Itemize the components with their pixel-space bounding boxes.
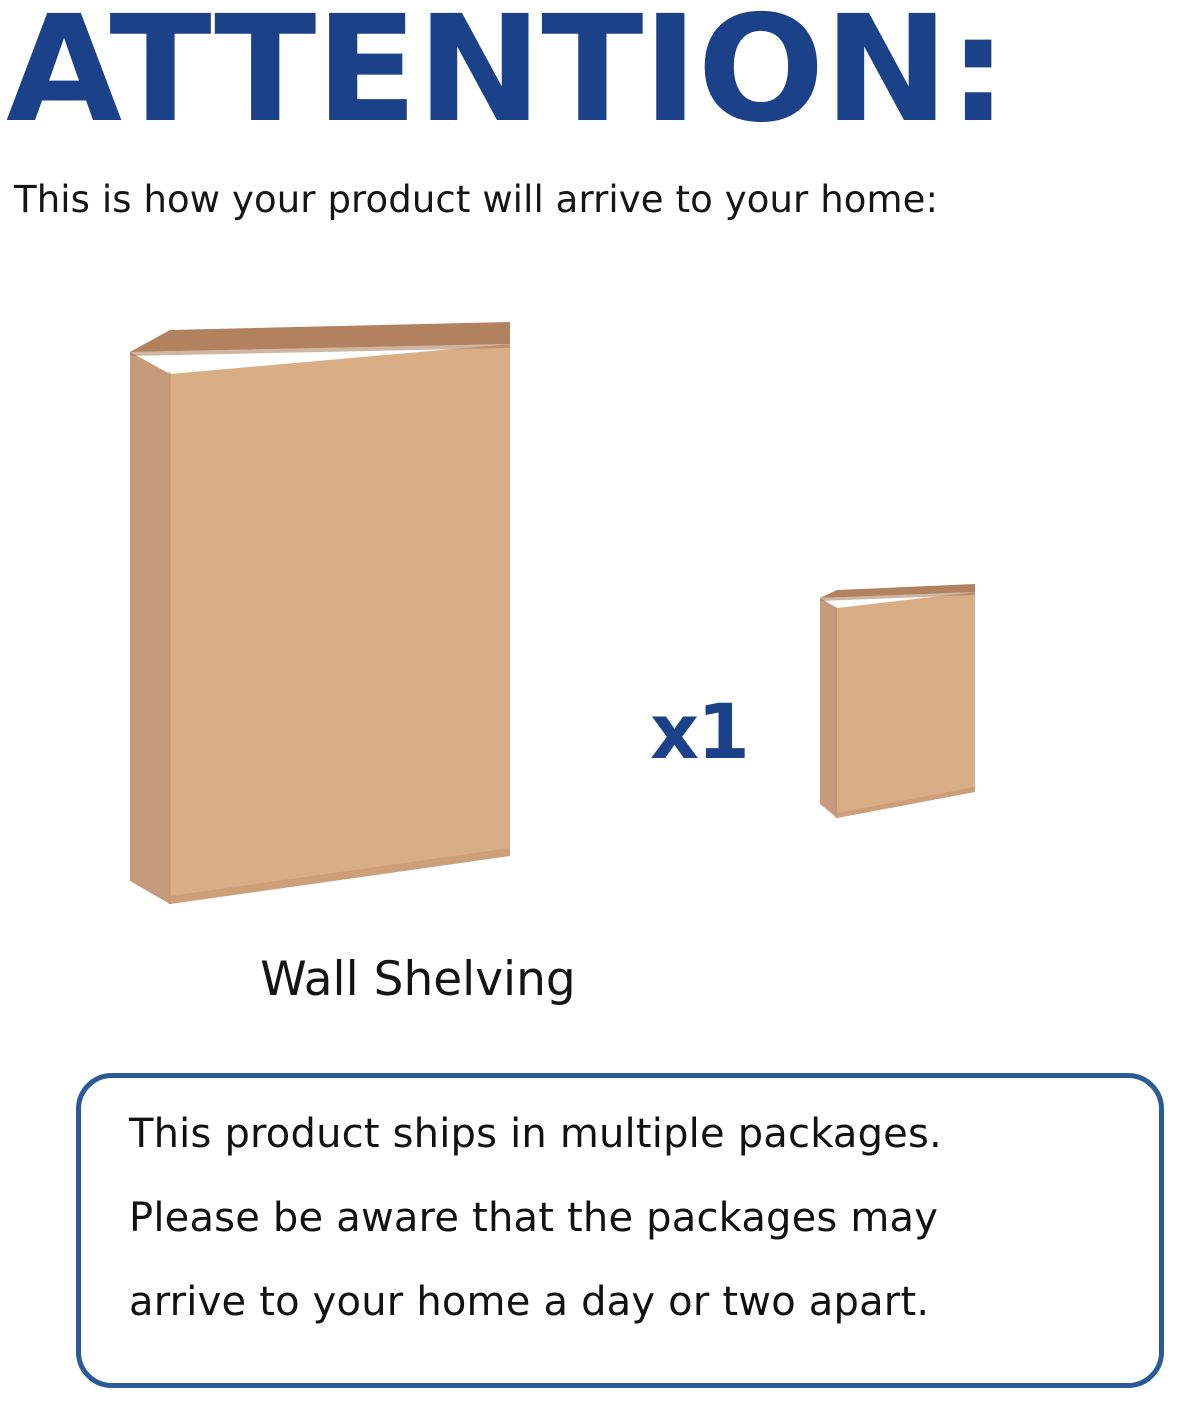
quantity-badge-wall-shelving: x1 [650, 694, 748, 770]
notice-line-2: Please be aware that the packages may [129, 1198, 1111, 1239]
package-item-wall-shelving: x1 Wall Shelving [118, 308, 538, 948]
notice-line-1: This product ships in multiple packages. [129, 1114, 1111, 1155]
package-label-wall-shelving: Wall Shelving [158, 953, 678, 1007]
page-title: ATTENTION: [6, 0, 1179, 146]
package-item-hook: x1 Hook [815, 580, 990, 830]
intro-subtitle: This is how your product will arrive to … [14, 178, 938, 222]
notice-line-3: arrive to your home a day or two apart. [129, 1282, 1111, 1323]
cardboard-box-icon [815, 580, 990, 830]
shipment-contents: x1 Wall Shelving x1 Hook [0, 280, 1179, 1000]
shipping-notice-callout: This product ships in multiple packages.… [76, 1073, 1164, 1388]
cardboard-box-icon [118, 308, 538, 928]
